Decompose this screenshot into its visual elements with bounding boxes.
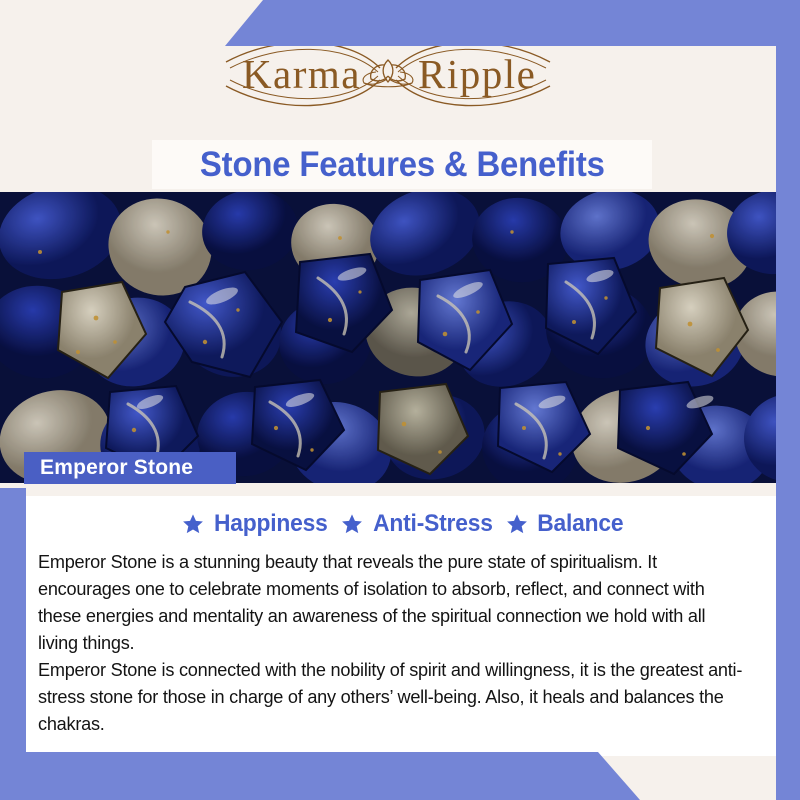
frame-accent-right <box>776 0 800 800</box>
star-icon <box>506 513 528 535</box>
infographic-page: Karma Ripple Stone Features & Benefits <box>0 0 800 800</box>
product-name-banner: Emperor Stone <box>24 452 236 484</box>
description-card: Happiness Anti-Stress Balance Emperor St… <box>26 496 776 756</box>
star-icon <box>341 513 363 535</box>
benefit-label: Anti-Stress <box>373 510 493 538</box>
brand-name-right: Ripple <box>418 51 536 97</box>
benefit-label: Happiness <box>214 510 328 538</box>
product-name: Emperor Stone <box>40 456 193 480</box>
benefits-list: Happiness Anti-Stress Balance <box>38 510 764 538</box>
page-title-band: Stone Features & Benefits <box>152 140 652 189</box>
benefit-label: Balance <box>537 510 623 538</box>
brand-name-left: Karma <box>242 51 361 97</box>
frame-accent-bottom <box>0 752 800 800</box>
frame-accent-top <box>225 0 800 46</box>
description-paragraph-2: Emperor Stone is connected with the nobi… <box>38 656 746 737</box>
benefit-item: Happiness <box>182 510 331 538</box>
benefit-item: Anti-Stress <box>341 510 496 538</box>
benefit-item: Balance <box>506 510 626 538</box>
star-icon <box>182 513 204 535</box>
description-paragraph-1: Emperor Stone is a stunning beauty that … <box>38 548 746 656</box>
photo-artwork <box>0 192 800 483</box>
page-title: Stone Features & Benefits <box>200 145 605 185</box>
lapis-lazuli-photo <box>0 192 800 483</box>
lotus-icon <box>363 60 413 87</box>
